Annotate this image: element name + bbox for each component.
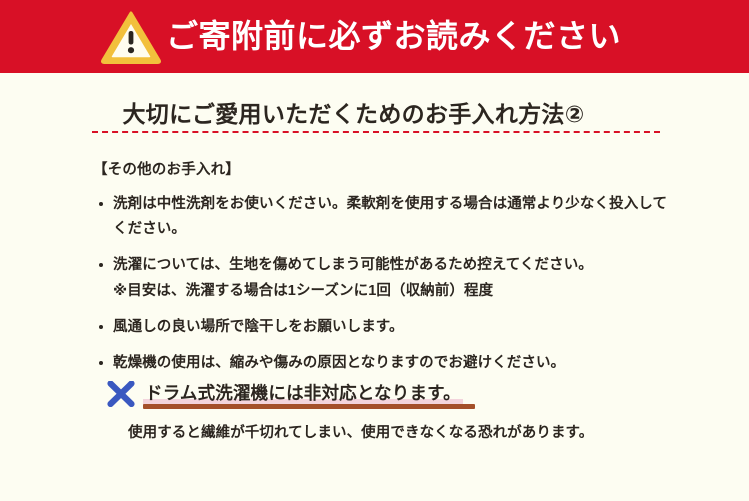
header-title: ご寄附前に必ずお読みください xyxy=(166,11,666,61)
bullet-dot-icon xyxy=(99,263,103,267)
section-title: 大切にご愛用いただくためのお手入れ方法② xyxy=(0,95,749,129)
bullet-dot-icon xyxy=(99,361,103,365)
bullet-subnote: ※目安は、洗濯する場合は1シーズンに1回（収納前）程度 xyxy=(113,279,673,304)
warning-note-text: 使用すると繊維が千切れてしまい、使用できなくなる恐れがあります。 xyxy=(128,421,686,442)
bullet-text: 洗剤は中性洗剤をお使いください。柔軟剤を使用する場合は通常より少なく投入してくだ… xyxy=(113,192,673,242)
bullet-text: 乾燥機の使用は、縮みや傷みの原因となりますのでお避けください。 xyxy=(113,351,673,376)
bullet-dot-icon xyxy=(99,202,103,206)
care-instruction-banner: ご寄附前に必ずお読みください 大切にご愛用いただくためのお手入れ方法② 【その他… xyxy=(0,0,749,501)
list-item: 洗濯については、生地を傷めてしまう可能性があるため控えてください。 ※目安は、洗… xyxy=(93,253,673,304)
list-item: 風通しの良い場所で陰干しをお願いします。 xyxy=(93,315,673,340)
care-bullet-list: 洗剤は中性洗剤をお使いください。柔軟剤を使用する場合は通常より少なく投入してくだ… xyxy=(93,192,673,376)
bullet-text: 洗濯については、生地を傷めてしまう可能性があるため控えてください。 xyxy=(113,253,673,278)
bullet-dot-icon xyxy=(99,325,103,329)
list-item: 乾燥機の使用は、縮みや傷みの原因となりますのでお避けください。 xyxy=(93,351,673,376)
blue-x-icon xyxy=(106,381,136,407)
warning-main-text: ドラム式洗濯機には非対応となります。 xyxy=(143,380,463,406)
warning-underline xyxy=(143,404,475,409)
incompatibility-warning: ドラム式洗濯機には非対応となります。 使用すると繊維が千切れてしまい、使用できな… xyxy=(106,380,686,442)
title-divider xyxy=(92,131,660,133)
bullet-text: 風通しの良い場所で陰干しをお願いします。 xyxy=(113,315,673,340)
header-banner: ご寄附前に必ずお読みください xyxy=(0,0,749,73)
care-body: 【その他のお手入れ】 洗剤は中性洗剤をお使いください。柔軟剤を使用する場合は通常… xyxy=(93,158,673,387)
group-heading: 【その他のお手入れ】 xyxy=(93,158,673,179)
warning-triangle-icon xyxy=(100,10,162,64)
list-item: 洗剤は中性洗剤をお使いください。柔軟剤を使用する場合は通常より少なく投入してくだ… xyxy=(93,192,673,242)
warning-heading-row: ドラム式洗濯機には非対応となります。 xyxy=(106,380,686,410)
